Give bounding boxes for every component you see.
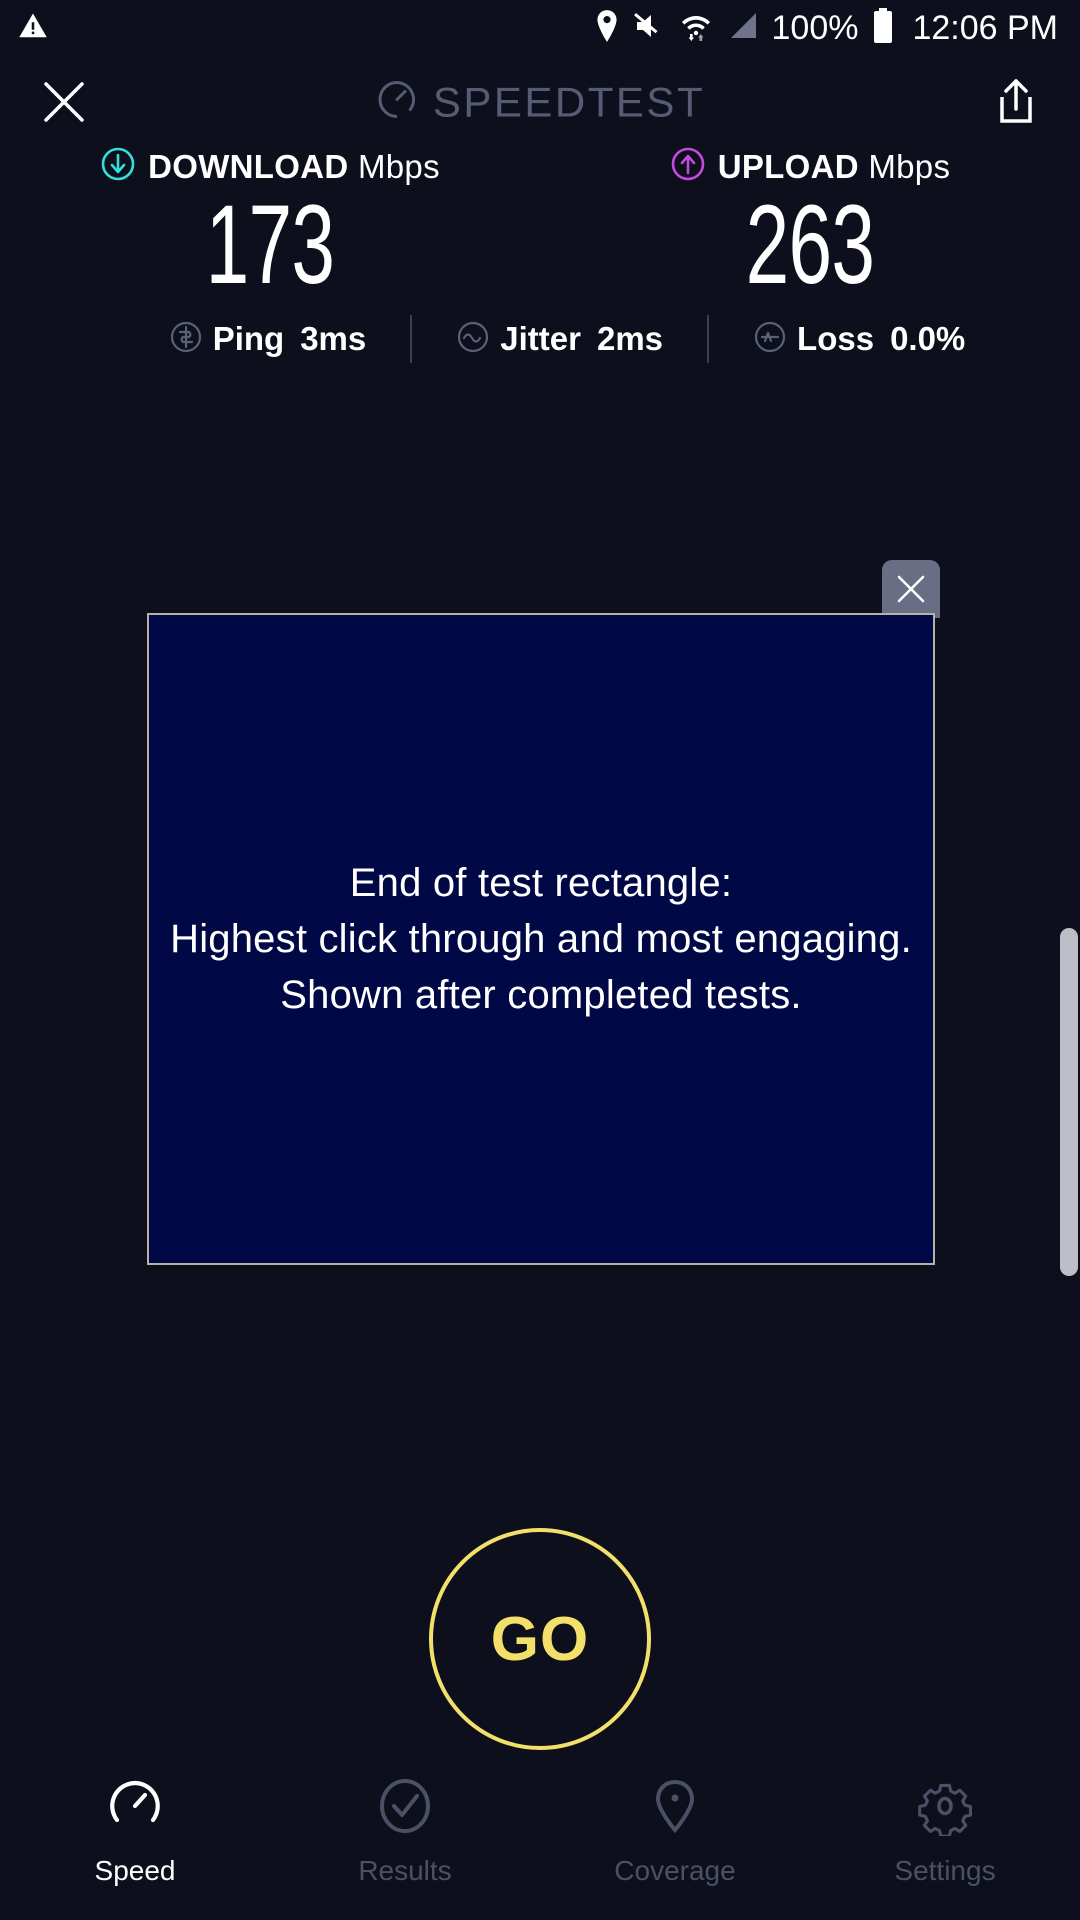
share-button[interactable] [988,74,1044,130]
app-header: SPEEDTEST [0,58,1080,146]
clock-label: 12:06 PM [912,11,1058,45]
jitter-icon [456,320,490,359]
download-value: 173 [206,189,335,301]
upload-label: UPLOAD Mbps [718,148,951,186]
nav-label-settings: Settings [894,1855,995,1887]
divider [410,315,412,363]
download-metric: DOWNLOAD Mbps 173 [0,146,540,301]
location-pin-icon [594,9,620,48]
status-bar: 100% 12:06 PM [0,0,1080,56]
speed-metrics-row: DOWNLOAD Mbps 173 UPLOAD Mbps 263 [0,146,1080,301]
nav-label-results: Results [358,1855,451,1887]
gear-icon [915,1776,975,1841]
location-pin-icon [645,1776,705,1841]
volume-mute-icon [634,11,666,46]
nav-item-settings[interactable]: Settings [810,1776,1080,1887]
share-icon [993,77,1039,127]
cellular-signal-icon [726,11,758,46]
ad-close-button[interactable] [882,560,940,618]
nav-label-speed: Speed [95,1855,176,1887]
jitter-label: Jitter [500,320,581,358]
upload-header: UPLOAD Mbps [670,146,951,187]
jitter-value: 2ms [597,320,663,358]
ad-line-2: Highest click through and most engaging. [170,911,912,967]
status-bar-left [18,11,48,46]
speedtest-app-screen: 100% 12:06 PM SPEEDTEST [0,0,1080,1920]
ping-value: 3ms [300,320,366,358]
ad-text: End of test rectangle: Highest click thr… [170,855,912,1023]
ping-label: Ping [213,320,285,358]
latency-metrics-row: Ping 3ms Jitter 2ms [0,315,1080,363]
ping-icon [169,320,203,359]
bottom-navigation-bar: Speed Results Coverage [0,1760,1080,1920]
loss-value: 0.0% [890,320,965,358]
warning-triangle-icon [18,11,48,46]
go-button[interactable]: GO [429,1528,651,1750]
loss-label: Loss [797,320,874,358]
upload-value: 263 [746,189,875,301]
test-results-panel: DOWNLOAD Mbps 173 UPLOAD Mbps 263 [0,146,1080,363]
app-title: SPEEDTEST [433,78,705,126]
jitter-metric: Jitter 2ms [456,320,663,359]
go-button-label: GO [491,1604,589,1675]
close-icon [894,572,928,606]
arrow-up-circle-icon [670,146,706,187]
nav-label-coverage: Coverage [614,1855,735,1887]
nav-item-speed[interactable]: Speed [0,1776,270,1887]
check-circle-icon [375,1776,435,1841]
battery-percent-label: 100% [772,11,859,45]
ad-line-3: Shown after completed tests. [170,967,912,1023]
ping-metric: Ping 3ms [169,320,367,359]
ad-line-1: End of test rectangle: [170,855,912,911]
nav-item-coverage[interactable]: Coverage [540,1776,810,1887]
arrow-down-circle-icon [100,146,136,187]
speedometer-icon [375,78,419,127]
battery-full-icon [872,8,894,49]
brand-logo: SPEEDTEST [0,78,1080,127]
loss-icon [753,320,787,359]
wifi-icon [680,10,712,47]
advertisement-banner[interactable]: End of test rectangle: Highest click thr… [147,613,935,1265]
divider [707,315,709,363]
download-label: DOWNLOAD Mbps [148,148,440,186]
download-header: DOWNLOAD Mbps [100,146,440,187]
nav-item-results[interactable]: Results [270,1776,540,1887]
upload-metric: UPLOAD Mbps 263 [540,146,1080,301]
speedometer-icon [105,1776,165,1841]
loss-metric: Loss 0.0% [753,320,965,359]
status-bar-right: 100% 12:06 PM [594,8,1059,49]
page-scrollbar[interactable] [1060,928,1078,1276]
